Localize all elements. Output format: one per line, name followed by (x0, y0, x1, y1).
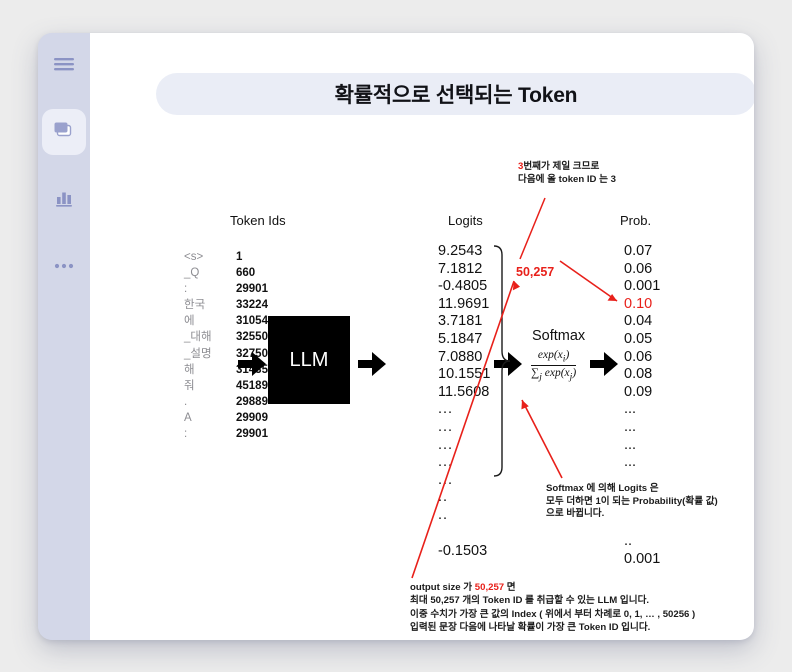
caption-line4: 입력된 문장 다음에 나타날 확률이 가장 큰 Token ID 입니다. (410, 622, 650, 633)
token-row: _Q660 (184, 265, 268, 281)
token-row: .29889 (184, 394, 268, 410)
token-row: A29909 (184, 410, 268, 426)
token-text: <s> (184, 249, 236, 265)
column-header-logits: Logits (448, 213, 483, 228)
note-softmax: Softmax 에 의해 Logits 은 모두 더하면 1이 되는 Proba… (546, 483, 718, 521)
logit-value: ... (438, 454, 490, 472)
prob-value: 0.001 (624, 278, 660, 296)
prob-value: ... (624, 419, 660, 437)
logit-value: ... (438, 472, 490, 490)
token-id: 32750 (236, 346, 268, 362)
prob-tail-value: .. (624, 533, 660, 551)
token-ids-table: <s>1_Q660:29901한국33224에31054_대해32550_설명3… (184, 249, 268, 442)
token-text: _Q (184, 265, 236, 281)
column-header-token-ids: Token Ids (230, 213, 286, 228)
token-text: : (184, 281, 236, 297)
logit-value: 9.2543 (438, 243, 490, 261)
llm-label: LLM (290, 349, 329, 372)
note-top: 3번째가 제일 크므로 다음에 올 token ID 는 3 (518, 161, 616, 186)
token-id: 31054 (236, 313, 268, 329)
logit-value: 7.1812 (438, 261, 490, 279)
token-id: 1 (236, 249, 242, 265)
logit-value: .. (438, 507, 490, 525)
slide-caption: output size 가 50,257 면 최대 50,257 개의 Toke… (410, 581, 695, 635)
token-row: <s>1 (184, 249, 268, 265)
prob-value: 0.04 (624, 313, 660, 331)
token-text: _대해 (184, 329, 236, 345)
token-id: 33224 (236, 297, 268, 313)
sidebar-item-menu[interactable] (42, 43, 86, 89)
app-window: 확률적으로 선택되는 Token Token Ids Logits Prob. … (38, 33, 754, 640)
caption-part-a: output size 가 (410, 582, 475, 593)
caption-line3: 이중 수치가 가장 큰 값의 Index ( 위에서 부터 차례로 0, 1, … (410, 609, 695, 620)
logit-value: ... (438, 419, 490, 437)
token-row: _대해32550 (184, 329, 268, 345)
token-row: 에31054 (184, 313, 268, 329)
logits-range-brace (494, 246, 510, 476)
prob-tail-list: ..0.001 (624, 533, 660, 568)
caption-line2: 최대 50,257 개의 Token ID 를 취급할 수 있는 LLM 입니다… (410, 595, 649, 606)
prob-value: ... (624, 437, 660, 455)
token-id: 29889 (236, 394, 268, 410)
sidebar (38, 33, 90, 640)
slide-title: 확률적으로 선택되는 Token (335, 79, 578, 109)
logit-value: 11.9691 (438, 296, 490, 314)
token-text: 에 (184, 313, 236, 329)
logits-last-value: -0.1503 (438, 543, 487, 559)
caption-part-b: 면 (504, 582, 516, 593)
bar-chart-icon (53, 188, 75, 213)
logit-value: 3.7181 (438, 313, 490, 331)
prob-value: 0.10 (624, 296, 660, 314)
note-top-rest: 번째가 제일 크므로 (523, 161, 599, 172)
token-text: : (184, 426, 236, 442)
token-row: _설명32750 (184, 346, 268, 362)
prob-value: 0.06 (624, 261, 660, 279)
red-arrow-note-to-softmax (521, 400, 562, 478)
prob-tail-value: 0.001 (624, 551, 660, 569)
prob-value: 0.09 (624, 384, 660, 402)
logit-value: 10.1551 (438, 366, 490, 384)
token-row: :29901 (184, 426, 268, 442)
prob-value: 0.07 (624, 243, 660, 261)
token-id: 32550 (236, 329, 268, 345)
slide-title-banner: 확률적으로 선택되는 Token (156, 73, 754, 115)
token-row: :29901 (184, 281, 268, 297)
llm-box: LLM (268, 316, 350, 404)
token-id: 31435 (236, 362, 268, 378)
block-arrow-softmax-to-prob (590, 352, 618, 376)
token-text: 줘 (184, 378, 236, 394)
token-text: 해 (184, 362, 236, 378)
prob-value: ... (624, 401, 660, 419)
red-arrow-top-note (520, 198, 545, 259)
token-text: . (184, 394, 236, 410)
softmax-denominator: ∑j exp(xj) (531, 366, 576, 382)
caption-vocab-red: 50,257 (475, 582, 504, 593)
logit-value: .. (438, 489, 490, 507)
sidebar-item-slides[interactable] (42, 109, 86, 155)
token-id: 29909 (236, 410, 268, 426)
vocab-size-label: 50,257 (516, 265, 554, 279)
token-id: 45189 (236, 378, 268, 394)
token-row: 한국33224 (184, 297, 268, 313)
token-row: 줘45189 (184, 378, 268, 394)
softmax-numerator: exp(xi) (531, 349, 576, 366)
block-arrow-logits-to-softmax (494, 352, 522, 376)
slides-cards-icon (52, 119, 76, 146)
prob-list: 0.070.060.0010.100.040.050.060.080.09...… (624, 243, 660, 472)
logits-list: 9.25437.1812-0.480511.96913.71815.18477.… (438, 243, 490, 525)
logit-value: 7.0880 (438, 349, 490, 367)
logit-value: ... (438, 401, 490, 419)
sidebar-item-more[interactable] (42, 243, 86, 289)
ellipsis-icon (53, 257, 75, 275)
prob-value: 0.08 (624, 366, 660, 384)
logit-value: 5.1847 (438, 331, 490, 349)
logit-value: 11.5608 (438, 384, 490, 402)
column-header-prob: Prob. (620, 213, 651, 228)
token-text: A (184, 410, 236, 426)
token-text: _설명 (184, 346, 236, 362)
token-row: 해31435 (184, 362, 268, 378)
block-arrow-llm-to-logits (358, 352, 386, 376)
note-top-line2: 다음에 올 token ID 는 3 (518, 174, 616, 185)
slide-canvas[interactable]: 확률적으로 선택되는 Token Token Ids Logits Prob. … (90, 33, 754, 640)
logit-value: -0.4805 (438, 278, 490, 296)
token-id: 29901 (236, 426, 268, 442)
sidebar-item-chart[interactable] (42, 177, 86, 223)
softmax-label: Softmax (532, 328, 585, 344)
red-arrow-to-prob (560, 261, 617, 301)
prob-value: ... (624, 454, 660, 472)
softmax-formula: exp(xi) ∑j exp(xj) (531, 349, 576, 383)
token-id: 29901 (236, 281, 268, 297)
prob-value: 0.06 (624, 349, 660, 367)
prob-value: 0.05 (624, 331, 660, 349)
logit-value: ... (438, 437, 490, 455)
app-root: 확률적으로 선택되는 Token Token Ids Logits Prob. … (0, 0, 792, 672)
hamburger-menu-icon (53, 56, 75, 77)
token-id: 660 (236, 265, 255, 281)
token-text: 한국 (184, 297, 236, 313)
